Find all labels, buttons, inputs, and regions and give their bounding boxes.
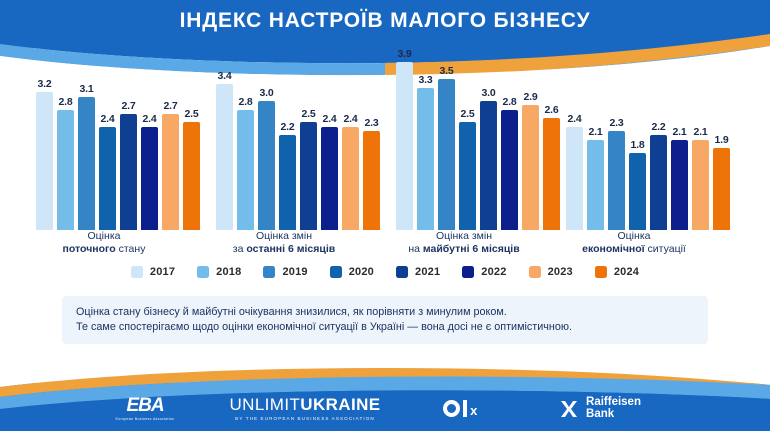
legend-item-2019[interactable]: 2019 <box>263 266 307 278</box>
bar-value-label: 1.8 <box>625 139 650 151</box>
legend-label-2018: 2018 <box>216 266 241 278</box>
bar-2017[interactable] <box>216 84 233 230</box>
bar-2019[interactable] <box>258 101 275 230</box>
category-label-line-1: Оцінка <box>539 230 729 243</box>
bar-column[interactable]: 2.4 <box>566 55 583 230</box>
bar-value-label: 2.3 <box>604 117 629 129</box>
bar-value-label: 1.9 <box>709 134 734 146</box>
legend-swatch-2018 <box>197 266 209 278</box>
bar-column[interactable]: 2.6 <box>543 55 560 230</box>
bar-column[interactable]: 2.4 <box>342 55 359 230</box>
bar-column[interactable]: 3.4 <box>216 55 233 230</box>
legend-label-2021: 2021 <box>415 266 440 278</box>
category-label-line-1: Оцінка змін <box>369 230 559 243</box>
legend-swatch-2020 <box>330 266 342 278</box>
olx-logo[interactable]: x <box>405 400 515 417</box>
eba-logo-subtitle: European Business Association <box>115 417 174 421</box>
bar-column[interactable]: 2.5 <box>300 55 317 230</box>
legend-item-2020[interactable]: 2020 <box>330 266 374 278</box>
bar-2022[interactable] <box>501 110 518 230</box>
bar-2021[interactable] <box>650 135 667 230</box>
bar-value-label: 2.3 <box>359 117 384 129</box>
raiffeisen-line-2: Bank <box>586 408 641 421</box>
raiffeisen-logo-text: Raiffeisen Bank <box>586 396 641 421</box>
bar-column[interactable]: 3.3 <box>417 55 434 230</box>
bar-column[interactable]: 2.8 <box>57 55 74 230</box>
category-label-line-2: економічної ситуації <box>539 243 729 256</box>
bar-2018[interactable] <box>587 140 604 230</box>
bar-column[interactable]: 2.3 <box>608 55 625 230</box>
bar-column[interactable]: 2.1 <box>587 55 604 230</box>
bar-value-label: 2.7 <box>116 100 141 112</box>
bar-column[interactable]: 2.9 <box>522 55 539 230</box>
olx-circle-icon <box>443 400 460 417</box>
chart-legend: 20172018201920202021202220232024 <box>0 262 770 282</box>
bar-column[interactable]: 2.2 <box>279 55 296 230</box>
page-title: ІНДЕКС НАСТРОЇВ МАЛОГО БІЗНЕСУ <box>0 8 770 34</box>
bar-2018[interactable] <box>57 110 74 230</box>
bar-column[interactable]: 2.1 <box>671 55 688 230</box>
bar-value-label: 2.4 <box>562 113 587 125</box>
legend-item-2018[interactable]: 2018 <box>197 266 241 278</box>
category-label-line-2: за останні 6 місяців <box>189 243 379 256</box>
bar-value-label: 2.6 <box>539 104 564 116</box>
bar-column[interactable]: 3.0 <box>258 55 275 230</box>
bar-2021[interactable] <box>480 101 497 230</box>
bar-group-bars: 3.93.33.52.53.02.82.92.6 <box>396 55 560 230</box>
category-label: Оцінка змінза останні 6 місяців <box>189 230 379 256</box>
bar-group-bars: 3.22.83.12.42.72.42.72.5 <box>36 55 200 230</box>
unlimit-logo-text: UNLIMITUKRAINE <box>229 396 380 414</box>
olx-x-letter: x <box>470 404 477 417</box>
legend-swatch-2019 <box>263 266 275 278</box>
bar-2019[interactable] <box>438 79 455 230</box>
unlimit-ukraine-logo[interactable]: UNLIMITUKRAINE BY THE EUROPEAN BUSINESS … <box>205 396 405 421</box>
category-label-line-2: поточного стану <box>9 243 199 256</box>
bar-2023[interactable] <box>522 105 539 230</box>
raiffeisen-gable-cross-icon <box>559 398 579 418</box>
bar-2024[interactable] <box>183 122 200 230</box>
eba-logo-text: EBA <box>126 396 163 415</box>
legend-item-2017[interactable]: 2017 <box>131 266 175 278</box>
legend-label-2023: 2023 <box>548 266 573 278</box>
legend-swatch-2017 <box>131 266 143 278</box>
legend-item-2023[interactable]: 2023 <box>529 266 573 278</box>
bar-value-label: 2.8 <box>53 96 78 108</box>
category-labels: Оцінкапоточного стануОцінка змінза остан… <box>0 230 770 258</box>
bar-2018[interactable] <box>417 88 434 230</box>
bar-2017[interactable] <box>396 62 413 230</box>
bar-2023[interactable] <box>692 140 709 230</box>
bar-column[interactable]: 2.2 <box>650 55 667 230</box>
bar-value-label: 3.4 <box>212 70 237 82</box>
unlimit-word-bold: UKRAINE <box>300 395 380 414</box>
bar-2024[interactable] <box>363 131 380 230</box>
bar-value-label: 2.5 <box>179 108 204 120</box>
olx-bar-icon <box>463 400 468 417</box>
category-label-line-2: на майбутні 6 місяців <box>369 243 559 256</box>
bar-group-bars: 2.42.12.31.82.22.12.11.9 <box>566 55 730 230</box>
category-label: Оцінка змінна майбутні 6 місяців <box>369 230 559 256</box>
category-label: Оцінкаекономічної ситуації <box>539 230 729 256</box>
unlimit-word-light: UNLIMIT <box>229 395 300 414</box>
bar-2024[interactable] <box>543 118 560 230</box>
partner-logos: EBA European Business Association UNLIMI… <box>0 385 770 431</box>
category-label-line-1: Оцінка <box>9 230 199 243</box>
bar-2018[interactable] <box>237 110 254 230</box>
bar-chart: 3.22.83.12.42.72.42.72.53.42.83.02.22.52… <box>0 55 770 230</box>
bar-2019[interactable] <box>608 131 625 230</box>
bar-column[interactable]: 1.8 <box>629 55 646 230</box>
legend-label-2020: 2020 <box>349 266 374 278</box>
bar-column[interactable]: 3.5 <box>438 55 455 230</box>
bar-2020[interactable] <box>629 153 646 230</box>
bar-column[interactable]: 2.8 <box>501 55 518 230</box>
bar-column[interactable]: 2.3 <box>363 55 380 230</box>
bar-column[interactable]: 2.7 <box>120 55 137 230</box>
bar-2020[interactable] <box>279 135 296 230</box>
unlimit-logo-subtitle: BY THE EUROPEAN BUSINESS ASSOCIATION <box>235 416 375 421</box>
raiffeisen-line-1: Raiffeisen <box>586 396 641 409</box>
bar-value-label: 2.9 <box>518 91 543 103</box>
bar-column[interactable]: 3.9 <box>396 55 413 230</box>
bar-value-label: 3.9 <box>392 48 417 60</box>
category-label: Оцінкапоточного стану <box>9 230 199 256</box>
bar-2022[interactable] <box>671 140 688 230</box>
bar-group-bars: 3.42.83.02.22.52.42.42.3 <box>216 55 380 230</box>
bar-2022[interactable] <box>141 127 158 230</box>
legend-label-2019: 2019 <box>282 266 307 278</box>
bar-2024[interactable] <box>713 148 730 230</box>
bar-value-label: 3.2 <box>32 78 57 90</box>
bar-2021[interactable] <box>300 122 317 230</box>
bar-column[interactable]: 2.1 <box>692 55 709 230</box>
bar-column[interactable]: 3.1 <box>78 55 95 230</box>
bar-value-label: 3.5 <box>434 65 459 77</box>
bar-2020[interactable] <box>99 127 116 230</box>
legend-swatch-2021 <box>396 266 408 278</box>
bar-value-label: 3.0 <box>254 87 279 99</box>
bar-column[interactable]: 2.4 <box>141 55 158 230</box>
bar-column[interactable]: 2.4 <box>321 55 338 230</box>
bar-2017[interactable] <box>36 92 53 230</box>
bar-value-label: 2.5 <box>455 108 480 120</box>
legend-item-2024[interactable]: 2024 <box>595 266 639 278</box>
bar-2023[interactable] <box>162 114 179 230</box>
callout-line-1: Оцінка стану бізнесу й майбутні очікуван… <box>76 305 694 320</box>
legend-swatch-2024 <box>595 266 607 278</box>
insight-callout: Оцінка стану бізнесу й майбутні очікуван… <box>62 296 708 344</box>
eba-logo[interactable]: EBA European Business Association <box>85 396 205 421</box>
category-label-line-1: Оцінка змін <box>189 230 379 243</box>
legend-swatch-2023 <box>529 266 541 278</box>
legend-swatch-2022 <box>462 266 474 278</box>
bar-column[interactable]: 2.7 <box>162 55 179 230</box>
bar-value-label: 2.2 <box>275 121 300 133</box>
bar-column[interactable]: 2.5 <box>183 55 200 230</box>
bar-value-label: 2.4 <box>137 113 162 125</box>
bar-2017[interactable] <box>566 127 583 230</box>
legend-label-2022: 2022 <box>481 266 506 278</box>
callout-line-2: Те саме спостерігаємо щодо оцінки економ… <box>76 320 694 335</box>
bar-column[interactable]: 2.5 <box>459 55 476 230</box>
bar-value-label: 3.1 <box>74 83 99 95</box>
bar-value-label: 2.4 <box>95 113 120 125</box>
infographic-root: ІНДЕКС НАСТРОЇВ МАЛОГО БІЗНЕСУ 3.22.83.1… <box>0 0 770 431</box>
bar-column[interactable]: 1.9 <box>713 55 730 230</box>
bar-2023[interactable] <box>342 127 359 230</box>
bar-column[interactable]: 3.2 <box>36 55 53 230</box>
bar-column[interactable]: 2.8 <box>237 55 254 230</box>
legend-label-2017: 2017 <box>150 266 175 278</box>
bar-column[interactable]: 2.4 <box>99 55 116 230</box>
legend-item-2021[interactable]: 2021 <box>396 266 440 278</box>
raiffeisen-bank-logo[interactable]: Raiffeisen Bank <box>515 396 685 421</box>
bar-2022[interactable] <box>321 127 338 230</box>
bar-2021[interactable] <box>120 114 137 230</box>
bar-2020[interactable] <box>459 122 476 230</box>
legend-label-2024: 2024 <box>614 266 639 278</box>
legend-item-2022[interactable]: 2022 <box>462 266 506 278</box>
bar-2019[interactable] <box>78 97 95 230</box>
bar-column[interactable]: 3.0 <box>480 55 497 230</box>
footer-banner: EBA European Business Association UNLIMI… <box>0 355 770 431</box>
